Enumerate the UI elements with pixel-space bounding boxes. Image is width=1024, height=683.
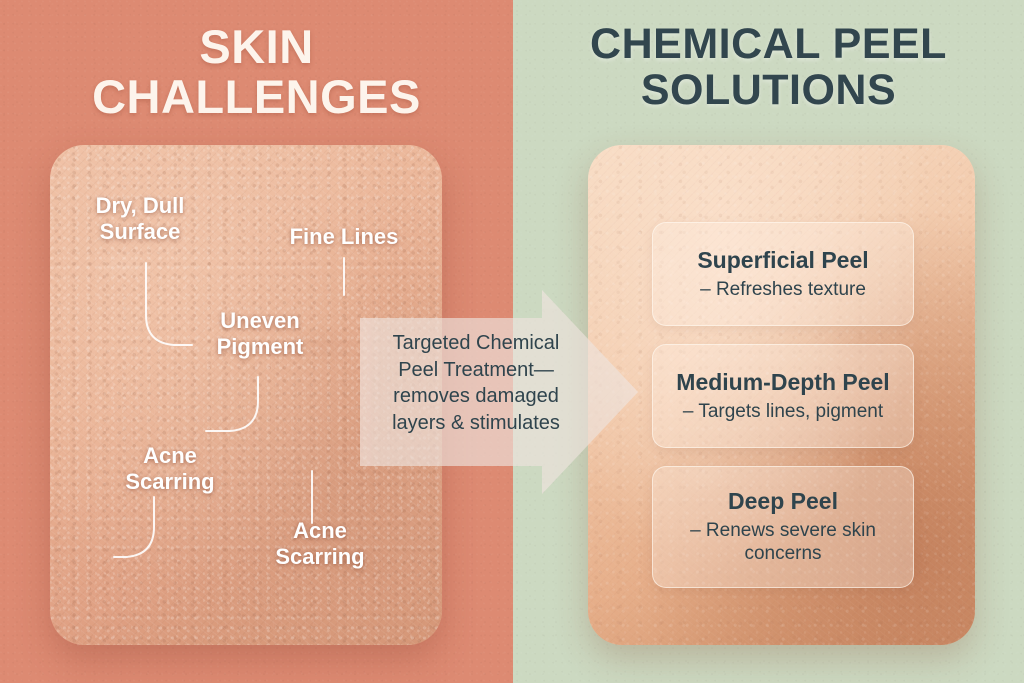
callout-acne-scarring-2: Acne Scarring bbox=[254, 518, 386, 570]
infographic-canvas: SKIN CHALLENGES CHEMICAL PEEL SOLUTIONS … bbox=[0, 0, 1024, 683]
left-heading: SKIN CHALLENGES bbox=[0, 22, 513, 122]
callout-fine-lines: Fine Lines bbox=[268, 224, 420, 250]
solution-title-superficial-peel: Superficial Peel bbox=[697, 247, 868, 275]
solution-sub-superficial-peel: – Refreshes texture bbox=[700, 278, 866, 302]
solution-card-medium-depth-peel: Medium-Depth Peel – Targets lines, pigme… bbox=[652, 344, 914, 448]
solution-sub-medium-depth-peel: – Targets lines, pigment bbox=[683, 400, 883, 424]
left-heading-line2: CHALLENGES bbox=[0, 72, 513, 122]
solution-title-deep-peel: Deep Peel bbox=[728, 488, 838, 516]
callout-dry-dull-surface: Dry, Dull Surface bbox=[66, 193, 214, 245]
solution-sub-deep-peel: – Renews severe skin concerns bbox=[690, 519, 876, 566]
right-heading: CHEMICAL PEEL SOLUTIONS bbox=[513, 22, 1024, 113]
solution-card-deep-peel: Deep Peel – Renews severe skin concerns bbox=[652, 466, 914, 588]
right-heading-line2: SOLUTIONS bbox=[513, 68, 1024, 114]
arrow-label: Targeted Chemical Peel Treatment— remove… bbox=[370, 330, 582, 436]
right-heading-line1: CHEMICAL PEEL bbox=[513, 22, 1024, 68]
callout-uneven-pigment: Uneven Pigment bbox=[190, 308, 330, 360]
callout-acne-scarring-1: Acne Scarring bbox=[104, 443, 236, 495]
solution-card-superficial-peel: Superficial Peel – Refreshes texture bbox=[652, 222, 914, 326]
left-heading-line1: SKIN bbox=[0, 22, 513, 72]
transition-arrow: Targeted Chemical Peel Treatment— remove… bbox=[360, 286, 642, 498]
solution-title-medium-depth-peel: Medium-Depth Peel bbox=[676, 369, 889, 397]
